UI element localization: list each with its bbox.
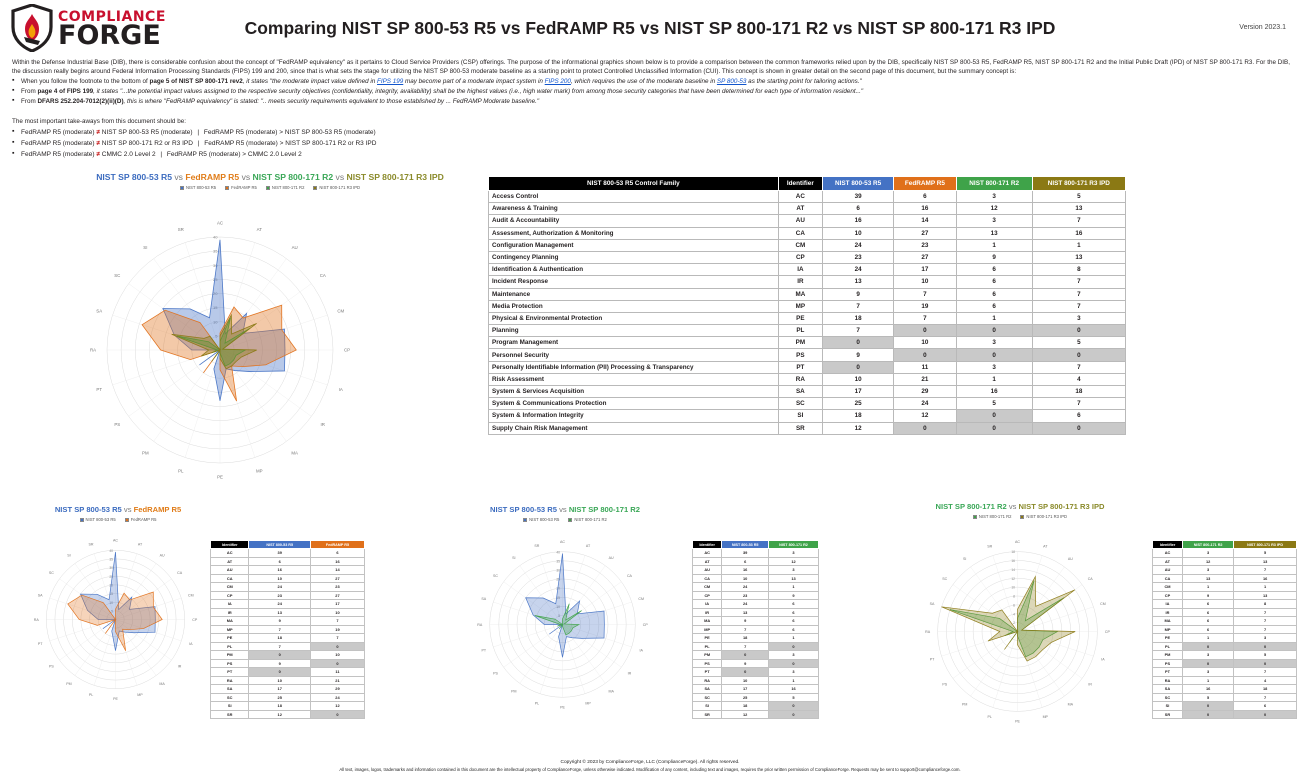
cell-identifier: SC [211, 693, 249, 702]
cell-count-1: 0 [1234, 710, 1297, 719]
cell-count-1: 27 [894, 227, 957, 239]
cell-count-0: 10 [823, 373, 894, 385]
cell-count-1: 0 [894, 422, 957, 434]
table-row: SC255 [693, 693, 819, 702]
cell-count-1: 5 [769, 693, 819, 702]
svg-text:SR: SR [987, 544, 992, 548]
cell-count-1: 6 [310, 549, 364, 558]
table-row: SR120 [211, 710, 365, 719]
cell-identifier: IR [778, 276, 822, 288]
bottom-left-table-wrap: IdentifierNIST 800-53 R5FedRAMP R5AC396A… [210, 540, 365, 719]
svg-text:AT: AT [586, 544, 591, 548]
table-row: PL70 [211, 642, 365, 651]
svg-text:8: 8 [1013, 595, 1015, 599]
cell-count-2: 5 [956, 398, 1032, 410]
svg-text:IR: IR [178, 664, 182, 668]
cell-count-1: 7 [310, 634, 364, 643]
table-row: PE187 [211, 634, 365, 643]
cell-count-0: 23 [249, 591, 310, 600]
svg-text:SA: SA [481, 597, 486, 601]
svg-text:CP: CP [643, 623, 649, 627]
cell-identifier: PT [693, 668, 722, 677]
cell-count-1: 7 [310, 617, 364, 626]
cell-count-0: 5 [1183, 693, 1234, 702]
table-row: Personally Identifiable Information (PII… [489, 361, 1126, 373]
cell-identifier: CP [1153, 591, 1183, 600]
comparison-table: IdentifierNIST 800-53 R5FedRAMP R5AC396A… [210, 540, 365, 719]
table-row: RA101 [693, 676, 819, 685]
takeaways-list: FedRAMP R5 (moderate) ≠ NIST SP 800-53 R… [12, 127, 532, 161]
svg-text:SR: SR [534, 544, 539, 548]
cell-count-0: 9 [823, 349, 894, 361]
svg-text:AC: AC [1015, 540, 1020, 544]
cell-count-3: 13 [1032, 203, 1125, 215]
col-header-identifier: Identifier [693, 541, 722, 549]
cell-identifier: AU [211, 566, 249, 575]
cell-count-0: 1 [1183, 676, 1234, 685]
title-vs-separator: vs [242, 172, 251, 182]
cell-identifier: RA [778, 373, 822, 385]
svg-text:IA: IA [640, 648, 644, 652]
cell-count-0: 6 [1183, 617, 1234, 626]
cell-count-1: 3 [769, 566, 819, 575]
svg-text:35: 35 [213, 249, 218, 254]
cell-count-3: 0 [1032, 349, 1125, 361]
table-row: MA67 [1153, 617, 1297, 626]
svg-text:CA: CA [320, 273, 326, 278]
table-row: PT37 [1153, 668, 1297, 677]
cell-count-2: 3 [956, 337, 1032, 349]
col-header-nist-800-171-r3-ipd: NIST 800-171 R3 IPD [1032, 177, 1125, 191]
svg-text:40: 40 [556, 550, 560, 554]
table-row: SA1716 [693, 685, 819, 694]
svg-text:AU: AU [292, 245, 298, 250]
legend-swatch-icon [80, 518, 84, 522]
cell-count-0: 9 [722, 617, 769, 626]
table-row: Risk AssessmentRA102114 [489, 373, 1126, 385]
cell-count-0: 6 [249, 557, 310, 566]
col-header-family: NIST 800-53 R5 Control Family [489, 177, 779, 191]
cell-count-0: 16 [823, 215, 894, 227]
cell-identifier: PS [1153, 659, 1183, 668]
cell-control-family: Configuration Management [489, 239, 779, 251]
svg-text:PM: PM [962, 702, 967, 706]
table-row: CP913 [1153, 591, 1297, 600]
table-row: CA1013 [693, 574, 819, 583]
cell-identifier: PS [778, 349, 822, 361]
fips-199-link[interactable]: FIPS 199 [377, 78, 403, 85]
table-row: AC393 [693, 549, 819, 558]
cell-count-1: 6 [769, 617, 819, 626]
cell-count-1: 1 [1234, 583, 1297, 592]
table-row: PM35 [1153, 651, 1297, 660]
table-header-row: IdentifierNIST 800-53 R5NIST 800-171 R2 [693, 541, 819, 549]
cell-count-0: 9 [1183, 591, 1234, 600]
title-framework-name: NIST SP 800-171 R3 IPD [1019, 502, 1105, 511]
svg-text:SA: SA [930, 602, 935, 606]
cell-count-2: 6 [956, 288, 1032, 300]
table-row: SC2524 [211, 693, 365, 702]
cell-count-1: 7 [894, 312, 957, 324]
legend-swatch-icon [1020, 515, 1024, 519]
table-row: AT612 [693, 557, 819, 566]
table-row: Awareness & TrainingAT6161213 [489, 203, 1126, 215]
cell-count-3: 7 [1032, 361, 1125, 373]
cell-count-1: 12 [769, 557, 819, 566]
svg-text:PE: PE [560, 706, 565, 710]
cell-count-0: 23 [823, 251, 894, 263]
cell-count-0: 9 [823, 288, 894, 300]
title-framework-name: NIST SP 800-53 R5 [96, 172, 172, 182]
table-row: Audit & AccountabilityAU161437 [489, 215, 1126, 227]
copyright-line: Copyright © 2023 by ComplianceForge, LLC… [0, 760, 1300, 765]
takeaway-left-a: FedRAMP R5 (moderate) [21, 151, 96, 158]
cell-control-family: Identification & Authentication [489, 264, 779, 276]
cell-identifier: IA [778, 264, 822, 276]
svg-text:AU: AU [1068, 557, 1073, 561]
bottom-right-table-wrap: IdentifierNIST 800-171 R2NIST 800-171 R3… [1152, 540, 1297, 719]
cell-count-0: 0 [1183, 702, 1234, 711]
table-row: PlanningPL7000 [489, 325, 1126, 337]
legend-swatch-icon [973, 515, 977, 519]
cell-count-3: 7 [1032, 276, 1125, 288]
cell-identifier: AU [778, 215, 822, 227]
takeaway-left-b: NIST SP 800-53 R5 (moderate) [100, 129, 194, 136]
svg-text:PM: PM [142, 450, 149, 455]
bottom-middle-title: NIST SP 800-53 R5 vs NIST SP 800-171 R2 [460, 505, 670, 514]
cell-count-0: 6 [1183, 608, 1234, 617]
takeaway-left-a: FedRAMP R5 (moderate) [21, 140, 96, 147]
cell-count-1: 17 [310, 600, 364, 609]
svg-text:12: 12 [1011, 577, 1015, 581]
cell-count-0: 0 [823, 361, 894, 373]
table-row: Program ManagementPM01035 [489, 337, 1126, 349]
cell-identifier: CP [778, 251, 822, 263]
cell-control-family: Audit & Accountability [489, 215, 779, 227]
cell-count-0: 6 [823, 203, 894, 215]
cell-identifier: PL [778, 325, 822, 337]
table-row: AT616 [211, 557, 365, 566]
cell-count-0: 17 [249, 685, 310, 694]
svg-text:PS: PS [493, 671, 498, 675]
table-row: SR120 [693, 710, 819, 719]
cell-control-family: Access Control [489, 191, 779, 203]
table-row: Identification & AuthenticationIA241768 [489, 264, 1126, 276]
svg-text:CA: CA [177, 571, 183, 575]
cell-count-1: 5 [1234, 651, 1297, 660]
cell-count-0: 17 [823, 386, 894, 398]
col-header-nist-800-53-r5: NIST 800-53 R5 [823, 177, 894, 191]
cell-identifier: SA [693, 685, 722, 694]
cell-identifier: PT [211, 668, 249, 677]
legal-notice-line: All text, images, logos, trademarks and … [0, 767, 1300, 772]
svg-text:AU: AU [609, 556, 614, 560]
cell-count-2: 6 [956, 276, 1032, 288]
cell-identifier: AC [693, 549, 722, 558]
svg-text:SI: SI [512, 556, 515, 560]
svg-text:CM: CM [1100, 602, 1106, 606]
cell-count-0: 18 [249, 634, 310, 643]
table-row: PS00 [1153, 659, 1297, 668]
cell-count-0: 24 [722, 583, 769, 592]
cell-count-0: 9 [249, 659, 310, 668]
svg-text:SR: SR [178, 227, 184, 232]
svg-text:MA: MA [1068, 702, 1074, 706]
cell-identifier: AT [778, 203, 822, 215]
takeaway-right-a: FedRAMP R5 (moderate) [202, 140, 279, 147]
cell-count-1: 16 [310, 557, 364, 566]
col-header-series-1: NIST 800-171 R3 IPD [1234, 541, 1297, 549]
takeaways-lead: The most important take-aways from this … [12, 118, 532, 125]
table-row: AU1614 [211, 566, 365, 575]
cell-identifier: AT [1153, 557, 1183, 566]
takeaway-left-a: FedRAMP R5 (moderate) [21, 129, 96, 136]
svg-text:MP: MP [137, 693, 143, 697]
table-row: AT1213 [1153, 557, 1297, 566]
sp-800-53-link[interactable]: SP 800-53 [717, 78, 747, 85]
intro-bullet-list: When you follow the footnote to the bott… [12, 77, 1290, 106]
takeaway-right-a: FedRAMP R5 (moderate) [202, 129, 279, 136]
cell-count-0: 10 [249, 676, 310, 685]
cell-identifier: IA [1153, 600, 1183, 609]
list-item: FedRAMP R5 (moderate) ≠ CMMC 2.0 Level 2… [12, 149, 532, 160]
col-header-series-1: FedRAMP R5 [310, 541, 364, 549]
table-row: SA1729 [211, 685, 365, 694]
comparison-table: IdentifierNIST 800-53 R5NIST 800-171 R2A… [692, 540, 819, 719]
table-row: Physical & Environmental ProtectionPE187… [489, 312, 1126, 324]
bullet-mid-text: , it states "the moderate impact value d… [243, 78, 377, 85]
cell-count-2: 13 [956, 227, 1032, 239]
cell-control-family: Physical & Environmental Protection [489, 312, 779, 324]
cell-count-1: 24 [894, 398, 957, 410]
cell-identifier: SI [1153, 702, 1183, 711]
title-framework-name: NIST SP 800-53 R5 [55, 505, 122, 514]
cell-control-family: System & Communications Protection [489, 398, 779, 410]
cell-count-1: 7 [1234, 608, 1297, 617]
svg-text:PS: PS [49, 664, 54, 668]
list-item: When you follow the footnote to the bott… [12, 77, 1290, 87]
cell-count-1: 10 [310, 651, 364, 660]
cell-count-1: 6 [769, 608, 819, 617]
cell-count-0: 16 [1183, 685, 1234, 694]
cell-count-2: 3 [956, 361, 1032, 373]
table-row: MP719 [211, 625, 365, 634]
cell-control-family: Planning [489, 325, 779, 337]
svg-text:PM: PM [511, 690, 516, 694]
cell-count-2: 0 [956, 325, 1032, 337]
svg-text:SC: SC [114, 273, 120, 278]
svg-text:SI: SI [67, 554, 70, 558]
table-row: PL70 [693, 642, 819, 651]
takeaway-right-b: NIST SP 800-171 R2 or R3 IPD [283, 140, 376, 147]
cell-count-0: 18 [249, 702, 310, 711]
takeaway-separator: | [194, 129, 202, 136]
cell-control-family: Supply Chain Risk Management [489, 422, 779, 434]
takeaway-right-b: CMMC 2.0 Level 2 [246, 151, 302, 158]
cell-identifier: CM [693, 583, 722, 592]
table-row: IR1310 [211, 608, 365, 617]
table-row: AC35 [1153, 549, 1297, 558]
cell-count-0: 10 [823, 227, 894, 239]
page-header: COMPLIANCE FORGE Comparing NIST SP 800-5… [0, 0, 1300, 52]
cell-count-1: 1 [769, 583, 819, 592]
cell-identifier: RA [1153, 676, 1183, 685]
cell-count-0: 10 [722, 676, 769, 685]
cell-identifier: AU [693, 566, 722, 575]
svg-text:CA: CA [627, 574, 633, 578]
cell-count-0: 0 [1183, 710, 1234, 719]
cell-count-0: 12 [722, 710, 769, 719]
bullet-bold-text: page 4 of FIPS 199 [37, 88, 93, 95]
svg-text:MA: MA [291, 450, 298, 455]
cell-count-2: 0 [956, 422, 1032, 434]
svg-text:PE: PE [1015, 720, 1020, 724]
cell-count-0: 7 [823, 325, 894, 337]
cell-count-2: 0 [956, 410, 1032, 422]
cell-identifier: PS [693, 659, 722, 668]
bullet-pre-text: From [21, 98, 37, 105]
cell-identifier: MP [1153, 625, 1183, 634]
col-header-series-0: NIST 800-53 R5 [722, 541, 769, 549]
cell-count-2: 9 [956, 251, 1032, 263]
legend-swatch-icon [225, 186, 229, 190]
cell-identifier: RA [693, 676, 722, 685]
cell-control-family: Awareness & Training [489, 203, 779, 215]
cell-identifier: PL [211, 642, 249, 651]
cell-count-2: 1 [956, 312, 1032, 324]
table-row: PE13 [1153, 634, 1297, 643]
cell-count-1: 0 [1234, 642, 1297, 651]
cell-count-3: 18 [1032, 386, 1125, 398]
cell-count-0: 13 [1183, 574, 1234, 583]
bullet-bold-text: DFARS 252.204-7012(2)(ii)(D) [37, 98, 123, 105]
cell-count-1: 16 [1234, 574, 1297, 583]
cell-count-2: 1 [956, 239, 1032, 251]
cell-identifier: IR [693, 608, 722, 617]
cell-count-0: 18 [823, 410, 894, 422]
svg-text:CP: CP [1105, 630, 1111, 634]
list-item: From page 4 of FIPS 199, it states "...t… [12, 87, 1290, 97]
cell-count-0: 12 [249, 710, 310, 719]
cell-count-2: 6 [956, 300, 1032, 312]
cell-identifier: PM [211, 651, 249, 660]
cell-count-1: 24 [310, 693, 364, 702]
control-family-comparison-table: NIST 800-53 R5 Control Family Identifier… [488, 176, 1126, 435]
cell-count-1: 21 [894, 373, 957, 385]
fips-200-link[interactable]: FIPS 200 [545, 78, 571, 85]
svg-text:10: 10 [1011, 586, 1015, 590]
cell-identifier: PS [211, 659, 249, 668]
cell-identifier: PL [693, 642, 722, 651]
cell-count-0: 6 [1183, 625, 1234, 634]
title-vs-separator: vs [559, 505, 567, 514]
cell-identifier: PE [693, 634, 722, 643]
cell-identifier: SI [211, 702, 249, 711]
cell-control-family: Assessment, Authorization & Monitoring [489, 227, 779, 239]
cell-identifier: AC [1153, 549, 1183, 558]
svg-text:MA: MA [159, 682, 165, 686]
cell-count-0: 9 [249, 617, 310, 626]
cell-count-1: 27 [894, 251, 957, 263]
svg-text:PL: PL [535, 701, 539, 705]
cell-identifier: MA [778, 288, 822, 300]
bullet-pre-text: From [21, 88, 37, 95]
table-row: AU163 [693, 566, 819, 575]
cell-count-2: 3 [956, 215, 1032, 227]
cell-count-0: 3 [1183, 549, 1234, 558]
cell-count-2: 6 [956, 264, 1032, 276]
cell-identifier: SC [778, 398, 822, 410]
cell-count-1: 0 [894, 349, 957, 361]
cell-count-3: 7 [1032, 398, 1125, 410]
cell-identifier: IR [1153, 608, 1183, 617]
svg-text:2: 2 [1013, 621, 1015, 625]
cell-identifier: PE [778, 312, 822, 324]
cell-count-1: 8 [1234, 600, 1297, 609]
cell-identifier: IR [211, 608, 249, 617]
cell-count-1: 0 [769, 659, 819, 668]
bottom-middle-radar-plot: 510152025303540ACATAUCACMCPIAIRMAMPPEPLP… [460, 522, 670, 732]
cell-count-2: 0 [956, 349, 1032, 361]
table-row: PS90 [693, 659, 819, 668]
table-row: PL00 [1153, 642, 1297, 651]
table-row: IA2417 [211, 600, 365, 609]
col-header-series-0: NIST 800-171 R2 [1183, 541, 1234, 549]
bottom-middle-table-wrap: IdentifierNIST 800-53 R5NIST 800-171 R2A… [692, 540, 819, 719]
cell-count-1: 17 [894, 264, 957, 276]
table-row: CA1316 [1153, 574, 1297, 583]
cell-count-0: 24 [722, 600, 769, 609]
cell-identifier: MA [211, 617, 249, 626]
cell-identifier: CA [778, 227, 822, 239]
cell-count-1: 7 [1234, 617, 1297, 626]
table-row: System & Services AcquisitionSA17291618 [489, 386, 1126, 398]
cell-count-1: 12 [310, 702, 364, 711]
cell-count-1: 0 [1234, 659, 1297, 668]
cell-count-0: 7 [823, 300, 894, 312]
svg-text:PT: PT [38, 642, 43, 646]
cell-count-1: 19 [310, 625, 364, 634]
table-row: RA1021 [211, 676, 365, 685]
svg-text:CM: CM [188, 593, 194, 597]
table-row: RA14 [1153, 676, 1297, 685]
table-row: Access ControlAC39635 [489, 191, 1126, 203]
bottom-right-title: NIST SP 800-171 R2 vs NIST SP 800-171 R3… [905, 502, 1135, 511]
cell-count-0: 24 [249, 583, 310, 592]
cell-identifier: SI [693, 702, 722, 711]
table-row: Personnel SecurityPS9000 [489, 349, 1126, 361]
cell-count-0: 3 [1183, 566, 1234, 575]
svg-text:35: 35 [109, 558, 113, 562]
table-row: SI180 [693, 702, 819, 711]
cell-count-0: 18 [722, 702, 769, 711]
svg-text:PL: PL [178, 468, 184, 473]
cell-control-family: Contingency Planning [489, 251, 779, 263]
table-row: MaintenanceMA9767 [489, 288, 1126, 300]
table-row: PT011 [211, 668, 365, 677]
svg-text:AC: AC [217, 221, 223, 226]
intro-paragraph: Within the Defense Industrial Base (DIB)… [12, 58, 1290, 76]
svg-text:CA: CA [1088, 577, 1094, 581]
table-row: SC57 [1153, 693, 1297, 702]
cell-count-1: 6 [769, 625, 819, 634]
cell-count-0: 39 [249, 549, 310, 558]
table-row: MP67 [1153, 625, 1297, 634]
cell-count-1: 7 [1234, 566, 1297, 575]
cell-count-3: 7 [1032, 215, 1125, 227]
svg-text:14: 14 [1011, 568, 1015, 572]
cell-control-family: Media Protection [489, 300, 779, 312]
